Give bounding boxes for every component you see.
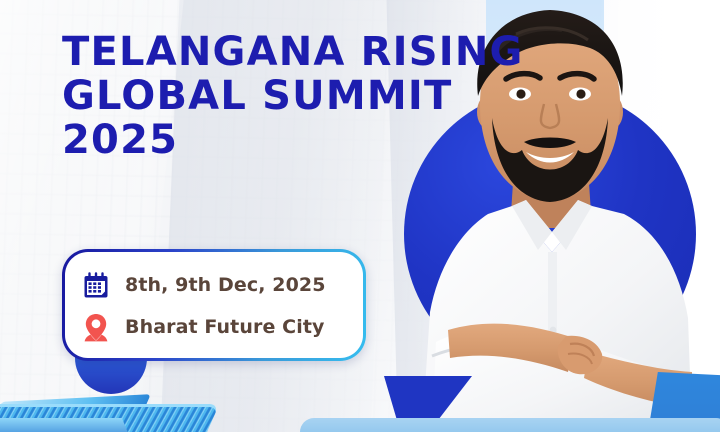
calendar-icon	[81, 269, 111, 301]
event-info-card-inner: 8th, 9th Dec, 2025 Bharat Future City	[65, 252, 363, 358]
event-date-text: 8th, 9th Dec, 2025	[125, 274, 326, 296]
bottom-rail-decoration	[300, 418, 720, 432]
summit-poster: TELANGANA RISING GLOBAL SUMMIT 2025	[0, 0, 720, 432]
page-title: TELANGANA RISING GLOBAL SUMMIT 2025	[62, 30, 532, 162]
glass-building-side	[0, 418, 138, 432]
event-info-card: 8th, 9th Dec, 2025 Bharat Future City	[62, 249, 366, 361]
event-location-text: Bharat Future City	[125, 316, 324, 338]
event-date-row: 8th, 9th Dec, 2025	[81, 269, 347, 301]
location-pin-icon	[81, 311, 111, 343]
event-location-row: Bharat Future City	[81, 311, 347, 343]
